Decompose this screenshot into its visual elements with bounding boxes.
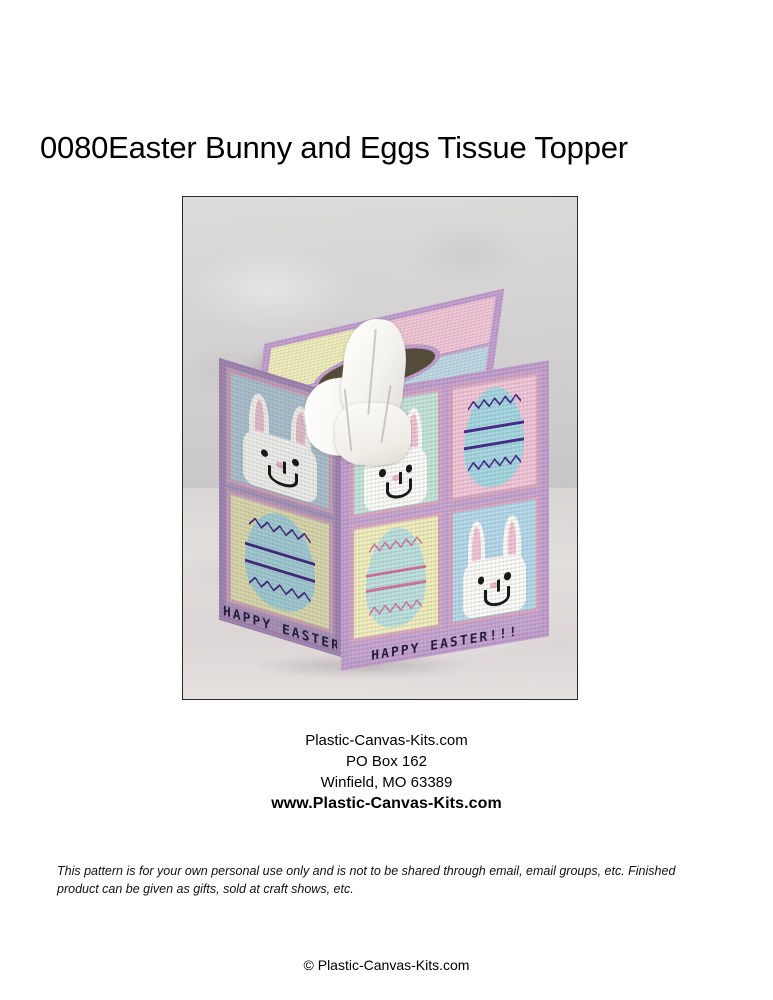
tissue-topper: HAPPY EASTER!!! <box>205 303 555 683</box>
bunny-mouth <box>386 479 412 501</box>
bunny-eye-left <box>478 576 484 585</box>
page-title: 0080Easter Bunny and Eggs Tissue Topper <box>40 130 740 166</box>
address-po-box: PO Box 162 <box>0 751 773 772</box>
front-block-bunny-blue <box>449 495 541 627</box>
egg-band-upper <box>464 420 524 433</box>
egg-zigzag-bottom <box>468 454 521 472</box>
bunny-eye-left <box>379 469 385 478</box>
address-company: Plastic-Canvas-Kits.com <box>0 730 773 751</box>
usage-disclaimer: This pattern is for your own personal us… <box>57 862 693 898</box>
website-link[interactable]: www.Plastic-Canvas-Kits.com <box>0 793 773 814</box>
egg-zigzag-bottom <box>369 598 422 616</box>
bunny-eye-left <box>261 448 268 457</box>
bunny-head <box>463 552 526 620</box>
copyright-notice: © Plastic-Canvas-Kits.com <box>0 957 773 973</box>
egg-band-lower <box>464 438 524 451</box>
egg-band-upper <box>366 564 426 577</box>
tissue-sheet <box>297 319 447 469</box>
front-block-egg-yellow <box>350 511 442 643</box>
bunny-eye-right <box>504 572 510 581</box>
front-block-egg-pink <box>449 371 541 503</box>
bunny-motif <box>461 513 527 620</box>
address-city-state-zip: Winfield, MO 63389 <box>0 772 773 793</box>
bunny-mouth <box>484 586 510 608</box>
egg-motif <box>366 523 426 631</box>
egg-motif <box>245 503 315 620</box>
egg-zigzag-top <box>468 393 521 411</box>
photo-background: HAPPY EASTER!!! <box>183 197 577 699</box>
egg-band-lower <box>366 580 426 593</box>
product-photo: HAPPY EASTER!!! <box>182 196 578 700</box>
egg-motif <box>464 383 524 491</box>
egg-zigzag-top <box>249 516 311 544</box>
egg-zigzag-top <box>369 536 422 554</box>
bunny-mouth <box>268 465 297 491</box>
company-address: Plastic-Canvas-Kits.com PO Box 162 Winfi… <box>0 730 773 814</box>
egg-zigzag-bottom <box>249 575 311 603</box>
